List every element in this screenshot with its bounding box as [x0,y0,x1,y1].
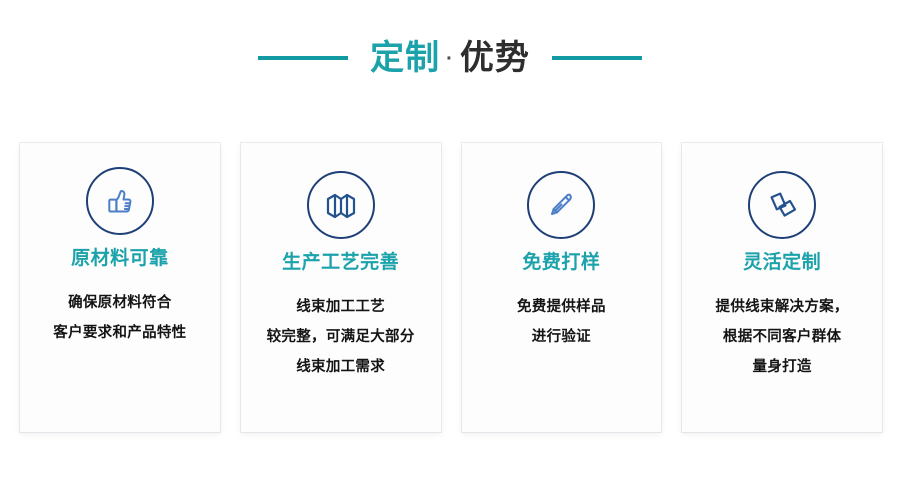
page-title-separator: · [440,48,460,70]
decorative-rule-right [552,56,642,60]
advantage-card[interactable]: 生产工艺完善 线束加工工艺 较完整，可满足大部分 线束加工需求 [241,143,441,432]
pencil-icon [544,188,578,222]
card-body-line: 线束加工工艺 [267,292,415,322]
thumbs-up-icon [102,183,138,219]
card-body-line: 客户要求和产品特性 [53,318,186,348]
card-body: 确保原材料符合 客户要求和产品特性 [53,288,186,348]
decorative-rule-left [258,56,348,60]
page-title-dark: 优势 [460,39,530,77]
card-title: 原材料可靠 [71,249,169,268]
folded-map-icon [324,188,358,222]
advantage-card[interactable]: 免费打样 免费提供样品 进行验证 [462,143,662,432]
card-title: 生产工艺完善 [282,253,399,272]
advantage-card-list: 原材料可靠 确保原材料符合 客户要求和产品特性 生产工艺完善 线束加工工艺 较完… [20,143,882,432]
card-body-line: 进行验证 [517,322,606,352]
icon-circle [748,171,816,239]
two-cards-icon [765,188,799,222]
card-body-line: 根据不同客户群体 [716,322,849,352]
card-body-line: 免费提供样品 [517,292,606,322]
icon-circle [307,171,375,239]
card-body: 免费提供样品 进行验证 [517,292,606,352]
card-body: 线束加工工艺 较完整，可满足大部分 线束加工需求 [267,292,415,382]
advantage-card[interactable]: 原材料可靠 确保原材料符合 客户要求和产品特性 [20,143,220,432]
section-header: 定制·优势 [0,28,900,88]
icon-circle [527,171,595,239]
advantage-card[interactable]: 灵活定制 提供线束解决方案， 根据不同客户群体 量身打造 [682,143,882,432]
card-body-line: 较完整，可满足大部分 [267,322,415,352]
card-body-line: 量身打造 [716,352,849,382]
card-title: 灵活定制 [743,253,821,272]
advantages-section: 定制·优势 原材料可靠 确保原材料符合 客户要求和产品特性 [0,0,900,499]
page-title-accent: 定制 [370,39,440,77]
page-title: 定制·优势 [370,41,530,75]
card-title: 免费打样 [522,253,600,272]
card-body: 提供线束解决方案， 根据不同客户群体 量身打造 [716,292,849,382]
card-body-line: 确保原材料符合 [53,288,186,318]
card-body-line: 线束加工需求 [267,352,415,382]
icon-circle [86,167,154,235]
card-body-line: 提供线束解决方案， [716,292,849,322]
